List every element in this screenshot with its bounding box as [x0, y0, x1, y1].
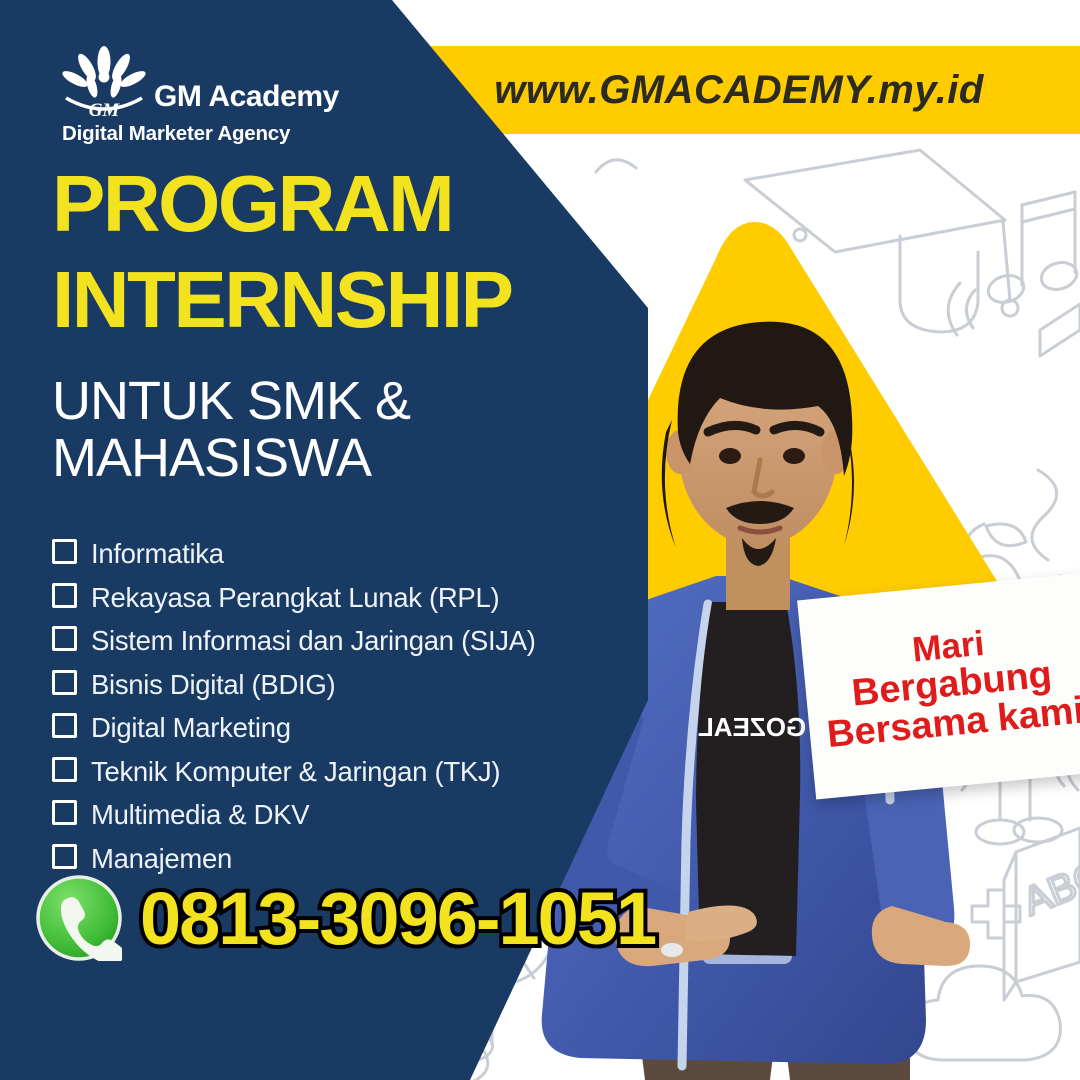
- list-item: Sistem Informasi dan Jaringan (SIJA): [52, 625, 592, 655]
- list-item: Rekayasa Perangkat Lunak (RPL): [52, 582, 592, 612]
- empty-checkbox-icon: [52, 800, 77, 825]
- list-item: Bisnis Digital (BDIG): [52, 669, 592, 699]
- subheadline-line-2: MAHASISWA: [52, 431, 572, 486]
- phone-number[interactable]: 0813-3096-1051: [140, 876, 655, 961]
- headline-block: PROGRAM INTERNSHIP UNTUK SMK & MAHASISWA: [52, 165, 572, 486]
- list-item: Informatika: [52, 538, 592, 568]
- brand-name: GM Academy: [154, 82, 339, 116]
- brand-logo[interactable]: GM GM Academy Digital Marketer Agency: [56, 46, 386, 146]
- shirt-text: GOZEAL: [698, 712, 806, 742]
- headline-line-1: PROGRAM: [52, 165, 572, 243]
- majors-list: Informatika Rekayasa Perangkat Lunak (RP…: [52, 538, 592, 886]
- list-item-label: Rekayasa Perangkat Lunak (RPL): [91, 584, 499, 612]
- empty-checkbox-icon: [52, 583, 77, 608]
- svg-text:GM: GM: [89, 100, 121, 121]
- navy-content: GM GM Academy Digital Marketer Agency PR…: [0, 0, 600, 1080]
- list-item-label: Sistem Informasi dan Jaringan (SIJA): [91, 627, 536, 655]
- phone-handset-icon[interactable]: [36, 875, 122, 961]
- list-item-label: Manajemen: [91, 845, 232, 873]
- empty-checkbox-icon: [52, 844, 77, 869]
- headline-line-2: INTERNSHIP: [52, 261, 572, 339]
- empty-checkbox-icon: [52, 670, 77, 695]
- poster-canvas: ABC: [0, 0, 1080, 1080]
- list-item-label: Informatika: [91, 540, 224, 568]
- lotus-flower-icon: GM: [56, 46, 152, 122]
- empty-checkbox-icon: [52, 757, 77, 782]
- list-item-label: Digital Marketing: [91, 714, 291, 742]
- held-sign: Mari Bergabung Bersama kami: [797, 572, 1080, 799]
- list-item: Digital Marketing: [52, 712, 592, 742]
- list-item-label: Teknik Komputer & Jaringan (TKJ): [91, 758, 500, 786]
- list-item-label: Bisnis Digital (BDIG): [91, 671, 335, 699]
- list-item: Teknik Komputer & Jaringan (TKJ): [52, 756, 592, 786]
- empty-checkbox-icon: [52, 626, 77, 651]
- list-item-label: Multimedia & DKV: [91, 801, 309, 829]
- list-item: Manajemen: [52, 843, 592, 873]
- empty-checkbox-icon: [52, 539, 77, 564]
- list-item: Multimedia & DKV: [52, 799, 592, 829]
- empty-checkbox-icon: [52, 713, 77, 738]
- contact-block[interactable]: 0813-3096-1051: [36, 875, 655, 961]
- subheadline-line-1: UNTUK SMK &: [52, 374, 572, 429]
- brand-tagline: Digital Marketer Agency: [62, 122, 386, 146]
